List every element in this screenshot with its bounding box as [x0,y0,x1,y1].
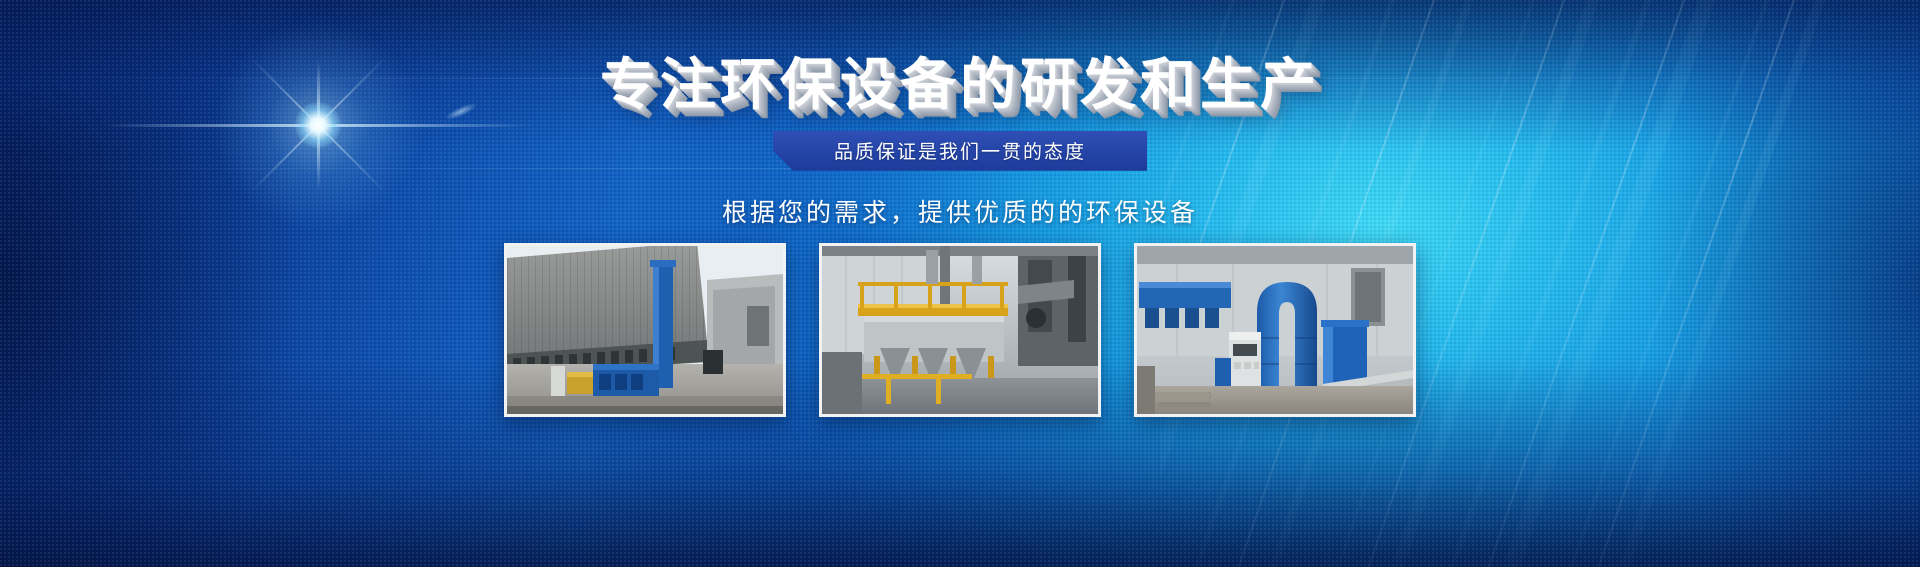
photo-2-artwork [822,246,1098,414]
photo-3-artwork [1137,246,1413,414]
banner-ribbon-text: 品质保证是我们一贯的态度 [834,137,1086,164]
banner-text-block: 专注环保设备的研发和生产 品质保证是我们一贯的态度 根据您的需求，提供优质的的环… [0,0,1920,229]
photo-blue-ducting-dust-unit[interactable] [1134,243,1416,417]
banner-headline: 专注环保设备的研发和生产 [0,0,1920,115]
photo-indoor-purification-line[interactable] [819,243,1101,417]
photo-workshop-exterior-dust-collector[interactable] [504,243,786,417]
banner-subtitle: 根据您的需求，提供优质的的环保设备 [0,193,1920,229]
photo-1-artwork [507,246,783,414]
hero-banner: 专注环保设备的研发和生产 品质保证是我们一贯的态度 根据您的需求，提供优质的的环… [0,0,1920,567]
banner-ribbon-wrapper: 品质保证是我们一贯的态度 [0,131,1920,171]
banner-photo-gallery [0,243,1920,417]
banner-ribbon: 品质保证是我们一贯的态度 [773,131,1147,171]
